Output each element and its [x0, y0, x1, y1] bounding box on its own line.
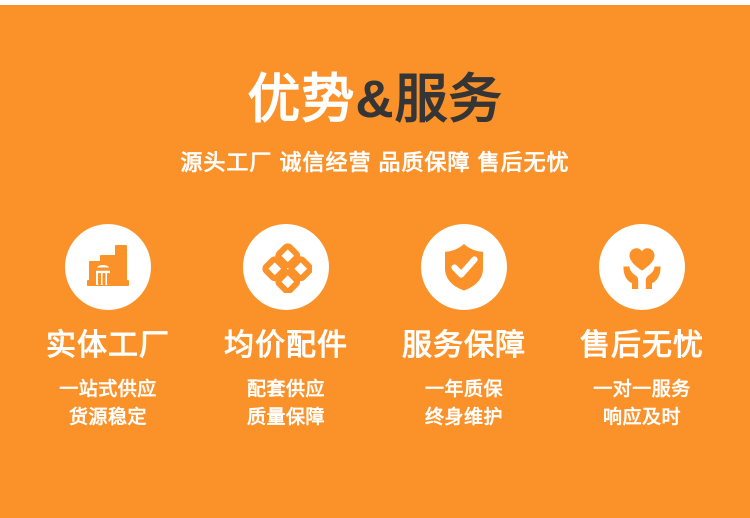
shield-check-icon: [421, 224, 507, 310]
feature-item-factory: 实体工厂 一站式供应 货源稳定: [19, 224, 197, 431]
banner-header: 优势&服务 源头工厂 诚信经营 品质保障 售后无忧: [0, 5, 750, 174]
feature-desc-line-2: 终身维护: [425, 404, 503, 432]
feature-desc-line-2: 响应及时: [593, 404, 691, 432]
four-diamonds-icon: [243, 224, 329, 310]
feature-description: 配套供应 质量保障: [247, 376, 325, 431]
feature-desc-line-2: 货源稳定: [59, 404, 157, 432]
feature-desc-line-2: 质量保障: [247, 404, 325, 432]
feature-desc-line-1: 一站式供应: [59, 376, 157, 404]
feature-desc-line-1: 一对一服务: [593, 376, 691, 404]
title-secondary-text: &服务: [355, 70, 502, 129]
top-white-strip: [0, 0, 750, 5]
feature-title: 实体工厂: [46, 331, 170, 361]
feature-description: 一站式供应 货源稳定: [59, 376, 157, 431]
feature-title: 均价配件: [224, 331, 348, 361]
promo-banner: 优势&服务 源头工厂 诚信经营 品质保障 售后无忧: [0, 0, 750, 518]
feature-title: 售后无忧: [580, 331, 704, 361]
page-title: 优势&服务: [0, 73, 750, 126]
feature-title: 服务保障: [402, 331, 526, 361]
feature-description: 一年质保 终身维护: [425, 376, 503, 431]
feature-desc-line-1: 配套供应: [247, 376, 325, 404]
title-primary-text: 优势: [247, 70, 355, 129]
page-subtitle: 源头工厂 诚信经营 品质保障 售后无忧: [0, 152, 750, 174]
feature-item-service-guarantee: 服务保障 一年质保 终身维护: [375, 224, 553, 431]
feature-desc-line-1: 一年质保: [425, 376, 503, 404]
feature-item-after-sales: 售后无忧 一对一服务 响应及时: [553, 224, 731, 431]
feature-list: 实体工厂 一站式供应 货源稳定 均价配件 配套供应: [0, 224, 750, 431]
feature-item-parts: 均价配件 配套供应 质量保障: [197, 224, 375, 431]
feature-description: 一对一服务 响应及时: [593, 376, 691, 431]
factory-icon: [65, 224, 151, 310]
heart-in-hands-icon: [599, 224, 685, 310]
